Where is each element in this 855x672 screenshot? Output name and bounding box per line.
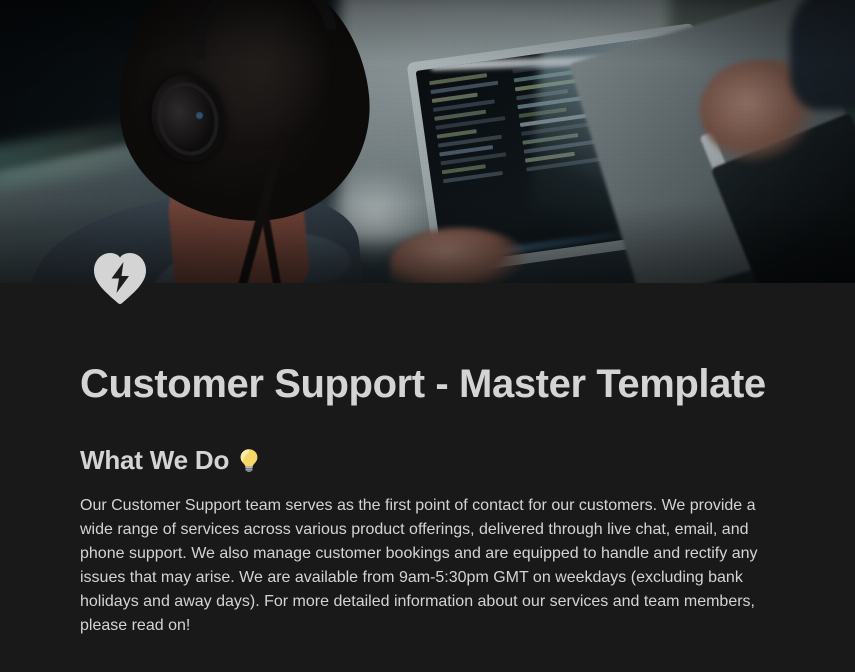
notion-page: Customer Support - Master Template What … bbox=[0, 0, 855, 672]
section-heading-text: What We Do bbox=[80, 444, 229, 476]
cover-photo-scene bbox=[0, 0, 855, 283]
page-title[interactable]: Customer Support - Master Template bbox=[80, 360, 780, 408]
heart-with-lightning-bolt-icon[interactable] bbox=[92, 251, 148, 305]
cover-vignette bbox=[0, 0, 855, 283]
page-cover-image[interactable] bbox=[0, 0, 855, 283]
section-paragraph[interactable]: Our Customer Support team serves as the … bbox=[80, 494, 780, 638]
section-heading-what-we-do[interactable]: What We Do bbox=[80, 444, 780, 476]
light-bulb-emoji bbox=[238, 448, 260, 472]
page-content: Customer Support - Master Template What … bbox=[80, 283, 780, 638]
